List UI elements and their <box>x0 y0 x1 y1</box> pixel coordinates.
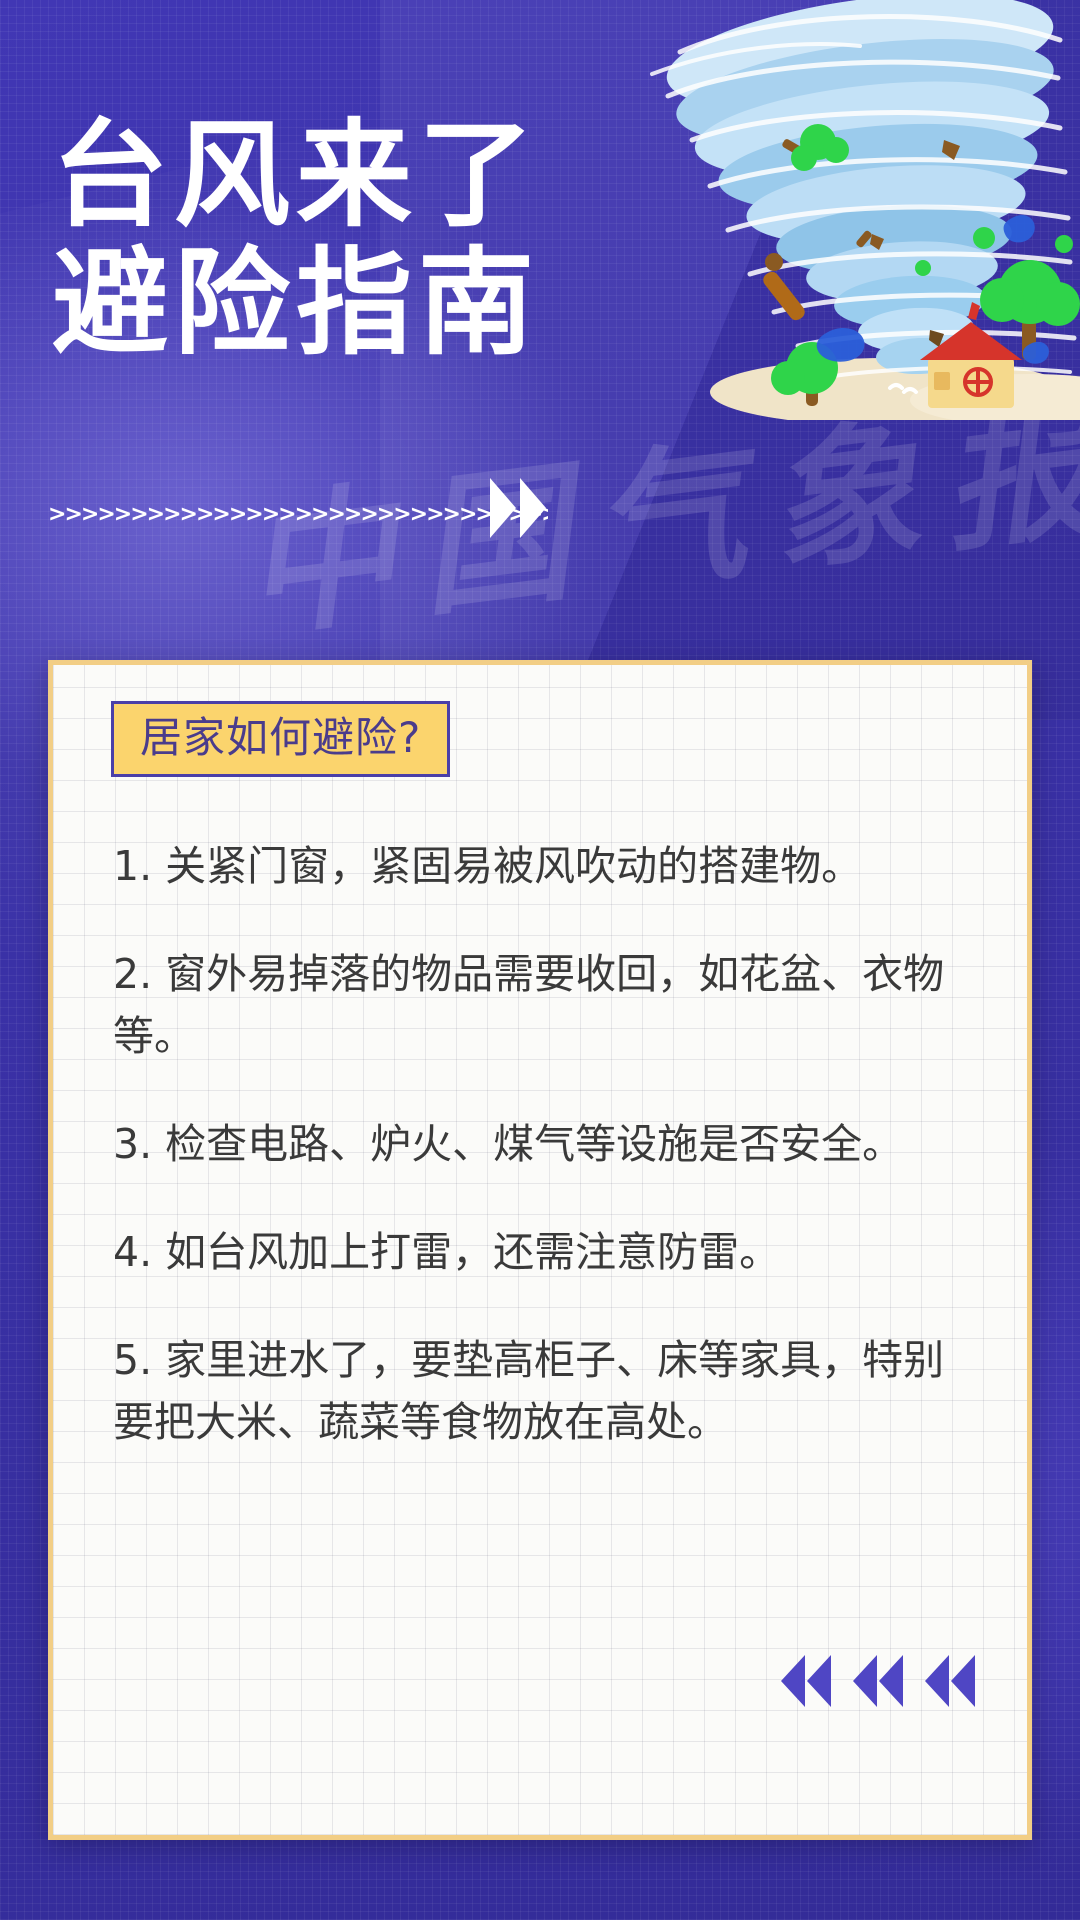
list-item: 2. 窗外易掉落的物品需要收回，如花盆、衣物等。 <box>113 943 961 1067</box>
content-card: 居家如何避险? 1. 关紧门窗，紧固易被风吹动的搭建物。 2. 窗外易掉落的物品… <box>48 660 1032 1840</box>
list-item: 1. 关紧门窗，紧固易被风吹动的搭建物。 <box>113 835 961 897</box>
double-chevron-left-icon <box>781 1655 831 1707</box>
poster-title: 台风来了 避险指南 <box>52 112 652 368</box>
advice-list: 1. 关紧门窗，紧固易被风吹动的搭建物。 2. 窗外易掉落的物品需要收回，如花盆… <box>93 835 987 1453</box>
double-chevron-left-icon <box>853 1655 903 1707</box>
double-chevron-left-icon <box>925 1655 975 1707</box>
list-item: 3. 检查电路、炉火、煤气等设施是否安全。 <box>113 1113 961 1175</box>
title-line-1: 台风来了 <box>52 112 652 240</box>
chevron-rail: >>>>>>>>>>>>>>>>>>>>>>>>>>>>>>> <box>48 500 548 530</box>
section-heading: 居家如何避险? <box>111 701 450 777</box>
list-item: 4. 如台风加上打雷，还需注意防雷。 <box>113 1221 961 1283</box>
title-line-2: 避险指南 <box>52 240 652 368</box>
list-item: 5. 家里进水了，要垫高柜子、床等家具，特别要把大米、蔬菜等食物放在高处。 <box>113 1329 961 1453</box>
double-chevron-right-icon <box>490 478 546 538</box>
card-back-arrows <box>781 1655 975 1707</box>
